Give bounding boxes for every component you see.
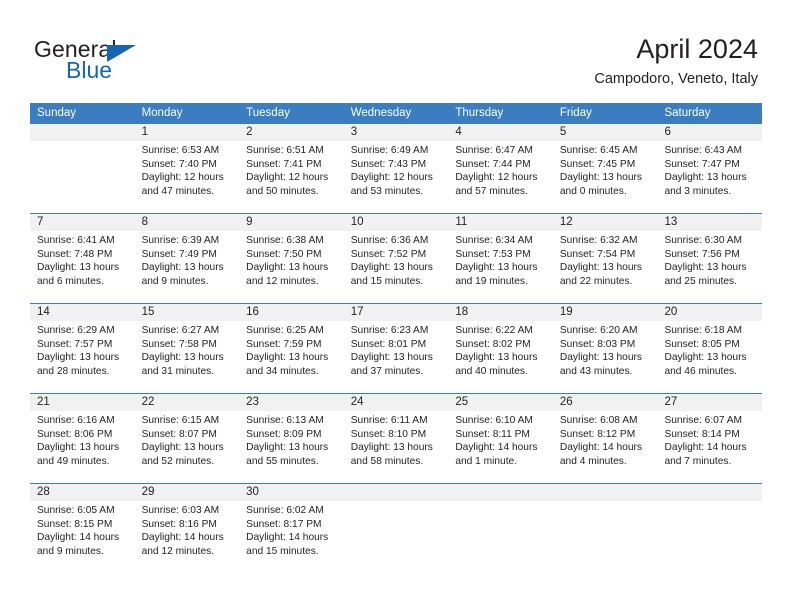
- day-details: Sunrise: 6:08 AMSunset: 8:12 PMDaylight:…: [553, 411, 658, 468]
- sunrise-time: Sunrise: 6:41 AM: [37, 234, 129, 248]
- daylight-duration-line1: Daylight: 12 hours: [351, 171, 443, 185]
- day-details: Sunrise: 6:49 AMSunset: 7:43 PMDaylight:…: [344, 141, 449, 198]
- weekday-header-monday: Monday: [135, 103, 240, 124]
- calendar-day-cell[interactable]: 1Sunrise: 6:53 AMSunset: 7:40 PMDaylight…: [135, 124, 240, 213]
- title-block: April 2024 Campodoro, Veneto, Italy: [594, 32, 758, 90]
- daylight-duration-line2: and 12 minutes.: [142, 545, 234, 559]
- sunrise-time: Sunrise: 6:39 AM: [142, 234, 234, 248]
- calendar-day-cell[interactable]: 28Sunrise: 6:05 AMSunset: 8:15 PMDayligh…: [30, 484, 135, 570]
- daylight-duration-line1: Daylight: 13 hours: [37, 351, 129, 365]
- daylight-duration-line1: Daylight: 14 hours: [455, 441, 547, 455]
- calendar-day-cell[interactable]: 3Sunrise: 6:49 AMSunset: 7:43 PMDaylight…: [344, 124, 449, 213]
- sunset-time: Sunset: 8:09 PM: [246, 428, 338, 442]
- day-number: 4: [448, 124, 553, 141]
- sunrise-time: Sunrise: 6:05 AM: [37, 504, 129, 518]
- daylight-duration-line2: and 49 minutes.: [37, 455, 129, 469]
- daylight-duration-line1: Daylight: 14 hours: [142, 531, 234, 545]
- calendar-day-cell-empty: [553, 484, 658, 570]
- sunrise-time: Sunrise: 6:08 AM: [560, 414, 652, 428]
- daylight-duration-line2: and 1 minute.: [455, 455, 547, 469]
- day-number: 11: [448, 214, 553, 231]
- location-subtitle: Campodoro, Veneto, Italy: [594, 68, 758, 90]
- sunrise-time: Sunrise: 6:45 AM: [560, 144, 652, 158]
- sunset-time: Sunset: 7:50 PM: [246, 248, 338, 262]
- daylight-duration-line1: Daylight: 14 hours: [246, 531, 338, 545]
- sunrise-time: Sunrise: 6:38 AM: [246, 234, 338, 248]
- calendar-day-cell[interactable]: 5Sunrise: 6:45 AMSunset: 7:45 PMDaylight…: [553, 124, 658, 213]
- daylight-duration-line1: Daylight: 13 hours: [455, 261, 547, 275]
- logo-text-blue: Blue: [66, 57, 112, 83]
- day-details: Sunrise: 6:22 AMSunset: 8:02 PMDaylight:…: [448, 321, 553, 378]
- daylight-duration-line1: Daylight: 13 hours: [142, 261, 234, 275]
- sunrise-time: Sunrise: 6:02 AM: [246, 504, 338, 518]
- calendar-week-row: 21Sunrise: 6:16 AMSunset: 8:06 PMDayligh…: [30, 393, 762, 483]
- sunrise-time: Sunrise: 6:43 AM: [664, 144, 756, 158]
- day-details: Sunrise: 6:43 AMSunset: 7:47 PMDaylight:…: [657, 141, 762, 198]
- daylight-duration-line1: Daylight: 12 hours: [455, 171, 547, 185]
- daylight-duration-line2: and 9 minutes.: [142, 275, 234, 289]
- daylight-duration-line1: Daylight: 13 hours: [560, 351, 652, 365]
- day-number: 25: [448, 394, 553, 411]
- calendar-day-cell[interactable]: 21Sunrise: 6:16 AMSunset: 8:06 PMDayligh…: [30, 394, 135, 483]
- day-number: 18: [448, 304, 553, 321]
- calendar-day-cell[interactable]: 22Sunrise: 6:15 AMSunset: 8:07 PMDayligh…: [135, 394, 240, 483]
- day-number: 5: [553, 124, 658, 141]
- weekday-header-tuesday: Tuesday: [239, 103, 344, 124]
- day-details: Sunrise: 6:27 AMSunset: 7:58 PMDaylight:…: [135, 321, 240, 378]
- day-details: Sunrise: 6:45 AMSunset: 7:45 PMDaylight:…: [553, 141, 658, 198]
- sunset-time: Sunset: 7:56 PM: [664, 248, 756, 262]
- daylight-duration-line1: Daylight: 13 hours: [351, 441, 443, 455]
- day-details: Sunrise: 6:23 AMSunset: 8:01 PMDaylight:…: [344, 321, 449, 378]
- sunset-time: Sunset: 7:54 PM: [560, 248, 652, 262]
- daylight-duration-line2: and 53 minutes.: [351, 185, 443, 199]
- sunset-time: Sunset: 8:03 PM: [560, 338, 652, 352]
- sunset-time: Sunset: 8:15 PM: [37, 518, 129, 532]
- calendar-day-cell[interactable]: 20Sunrise: 6:18 AMSunset: 8:05 PMDayligh…: [657, 304, 762, 393]
- calendar-day-cell[interactable]: 16Sunrise: 6:25 AMSunset: 7:59 PMDayligh…: [239, 304, 344, 393]
- calendar-week-row: 14Sunrise: 6:29 AMSunset: 7:57 PMDayligh…: [30, 303, 762, 393]
- daylight-duration-line2: and 52 minutes.: [142, 455, 234, 469]
- calendar-day-cell[interactable]: 30Sunrise: 6:02 AMSunset: 8:17 PMDayligh…: [239, 484, 344, 570]
- day-details: Sunrise: 6:41 AMSunset: 7:48 PMDaylight:…: [30, 231, 135, 288]
- calendar-day-cell[interactable]: 7Sunrise: 6:41 AMSunset: 7:48 PMDaylight…: [30, 214, 135, 303]
- sunset-time: Sunset: 7:41 PM: [246, 158, 338, 172]
- sunset-time: Sunset: 8:16 PM: [142, 518, 234, 532]
- weekday-header-friday: Friday: [553, 103, 658, 124]
- sunrise-time: Sunrise: 6:10 AM: [455, 414, 547, 428]
- day-details: Sunrise: 6:20 AMSunset: 8:03 PMDaylight:…: [553, 321, 658, 378]
- daylight-duration-line1: Daylight: 13 hours: [246, 261, 338, 275]
- sunrise-time: Sunrise: 6:34 AM: [455, 234, 547, 248]
- daylight-duration-line2: and 31 minutes.: [142, 365, 234, 379]
- day-details: Sunrise: 6:07 AMSunset: 8:14 PMDaylight:…: [657, 411, 762, 468]
- daylight-duration-line1: Daylight: 12 hours: [142, 171, 234, 185]
- general-blue-logo: General Blue: [34, 36, 234, 90]
- weekday-header-thursday: Thursday: [448, 103, 553, 124]
- daylight-duration-line1: Daylight: 13 hours: [142, 441, 234, 455]
- sunset-time: Sunset: 8:14 PM: [664, 428, 756, 442]
- sunrise-time: Sunrise: 6:16 AM: [37, 414, 129, 428]
- day-details: Sunrise: 6:13 AMSunset: 8:09 PMDaylight:…: [239, 411, 344, 468]
- day-number: [553, 484, 658, 501]
- daylight-duration-line2: and 40 minutes.: [455, 365, 547, 379]
- day-details: Sunrise: 6:02 AMSunset: 8:17 PMDaylight:…: [239, 501, 344, 558]
- day-details: Sunrise: 6:10 AMSunset: 8:11 PMDaylight:…: [448, 411, 553, 468]
- daylight-duration-line2: and 19 minutes.: [455, 275, 547, 289]
- daylight-duration-line1: Daylight: 13 hours: [560, 171, 652, 185]
- calendar-page: General Blue April 2024 Campodoro, Venet…: [0, 0, 792, 612]
- calendar-day-cell[interactable]: 15Sunrise: 6:27 AMSunset: 7:58 PMDayligh…: [135, 304, 240, 393]
- calendar-day-cell[interactable]: 25Sunrise: 6:10 AMSunset: 8:11 PMDayligh…: [448, 394, 553, 483]
- day-number: [344, 484, 449, 501]
- page-title: April 2024: [594, 32, 758, 66]
- daylight-duration-line2: and 46 minutes.: [664, 365, 756, 379]
- day-number: 16: [239, 304, 344, 321]
- day-number: 30: [239, 484, 344, 501]
- calendar-day-cell-empty: [657, 484, 762, 570]
- day-details: Sunrise: 6:03 AMSunset: 8:16 PMDaylight:…: [135, 501, 240, 558]
- sunrise-time: Sunrise: 6:20 AM: [560, 324, 652, 338]
- daylight-duration-line2: and 15 minutes.: [351, 275, 443, 289]
- daylight-duration-line1: Daylight: 13 hours: [351, 351, 443, 365]
- sunset-time: Sunset: 7:52 PM: [351, 248, 443, 262]
- daylight-duration-line1: Daylight: 13 hours: [351, 261, 443, 275]
- daylight-duration-line1: Daylight: 13 hours: [664, 261, 756, 275]
- calendar-day-cell[interactable]: 18Sunrise: 6:22 AMSunset: 8:02 PMDayligh…: [448, 304, 553, 393]
- sunset-time: Sunset: 8:12 PM: [560, 428, 652, 442]
- sunrise-time: Sunrise: 6:23 AM: [351, 324, 443, 338]
- day-number: 8: [135, 214, 240, 231]
- day-number: 19: [553, 304, 658, 321]
- sunrise-time: Sunrise: 6:30 AM: [664, 234, 756, 248]
- weekday-header-sunday: Sunday: [30, 103, 135, 124]
- day-number: 22: [135, 394, 240, 411]
- sunset-time: Sunset: 8:07 PM: [142, 428, 234, 442]
- daylight-duration-line1: Daylight: 13 hours: [246, 351, 338, 365]
- daylight-duration-line1: Daylight: 14 hours: [664, 441, 756, 455]
- daylight-duration-line2: and 28 minutes.: [37, 365, 129, 379]
- day-details: Sunrise: 6:18 AMSunset: 8:05 PMDaylight:…: [657, 321, 762, 378]
- page-header: General Blue April 2024 Campodoro, Venet…: [34, 32, 758, 94]
- calendar-grid: Sunday Monday Tuesday Wednesday Thursday…: [30, 103, 762, 570]
- daylight-duration-line2: and 55 minutes.: [246, 455, 338, 469]
- day-number: 27: [657, 394, 762, 411]
- calendar-day-cell[interactable]: 27Sunrise: 6:07 AMSunset: 8:14 PMDayligh…: [657, 394, 762, 483]
- day-number: 6: [657, 124, 762, 141]
- sunrise-time: Sunrise: 6:18 AM: [664, 324, 756, 338]
- daylight-duration-line1: Daylight: 13 hours: [560, 261, 652, 275]
- sunset-time: Sunset: 7:40 PM: [142, 158, 234, 172]
- calendar-day-cell-empty: [344, 484, 449, 570]
- day-number: 17: [344, 304, 449, 321]
- daylight-duration-line1: Daylight: 14 hours: [37, 531, 129, 545]
- day-details: Sunrise: 6:51 AMSunset: 7:41 PMDaylight:…: [239, 141, 344, 198]
- sunset-time: Sunset: 7:44 PM: [455, 158, 547, 172]
- sunrise-time: Sunrise: 6:51 AM: [246, 144, 338, 158]
- daylight-duration-line2: and 37 minutes.: [351, 365, 443, 379]
- calendar-day-cell[interactable]: 2Sunrise: 6:51 AMSunset: 7:41 PMDaylight…: [239, 124, 344, 213]
- calendar-day-cell[interactable]: 10Sunrise: 6:36 AMSunset: 7:52 PMDayligh…: [344, 214, 449, 303]
- sunset-time: Sunset: 8:05 PM: [664, 338, 756, 352]
- daylight-duration-line2: and 22 minutes.: [560, 275, 652, 289]
- daylight-duration-line1: Daylight: 13 hours: [664, 171, 756, 185]
- sunset-time: Sunset: 7:57 PM: [37, 338, 129, 352]
- day-details: Sunrise: 6:36 AMSunset: 7:52 PMDaylight:…: [344, 231, 449, 288]
- day-details: Sunrise: 6:39 AMSunset: 7:49 PMDaylight:…: [135, 231, 240, 288]
- sunset-time: Sunset: 7:45 PM: [560, 158, 652, 172]
- sunset-time: Sunset: 8:11 PM: [455, 428, 547, 442]
- day-number: 29: [135, 484, 240, 501]
- daylight-duration-line1: Daylight: 13 hours: [455, 351, 547, 365]
- sunrise-time: Sunrise: 6:03 AM: [142, 504, 234, 518]
- day-number: 10: [344, 214, 449, 231]
- day-number: 7: [30, 214, 135, 231]
- daylight-duration-line2: and 3 minutes.: [664, 185, 756, 199]
- sunrise-time: Sunrise: 6:32 AM: [560, 234, 652, 248]
- day-number: [657, 484, 762, 501]
- calendar-day-cell[interactable]: 9Sunrise: 6:38 AMSunset: 7:50 PMDaylight…: [239, 214, 344, 303]
- sunrise-time: Sunrise: 6:36 AM: [351, 234, 443, 248]
- sunset-time: Sunset: 7:49 PM: [142, 248, 234, 262]
- sunset-time: Sunset: 7:58 PM: [142, 338, 234, 352]
- calendar-day-cell-empty: [30, 124, 135, 213]
- sunrise-time: Sunrise: 6:07 AM: [664, 414, 756, 428]
- calendar-day-cell[interactable]: 6Sunrise: 6:43 AMSunset: 7:47 PMDaylight…: [657, 124, 762, 213]
- day-number: 21: [30, 394, 135, 411]
- calendar-day-cell[interactable]: 8Sunrise: 6:39 AMSunset: 7:49 PMDaylight…: [135, 214, 240, 303]
- daylight-duration-line1: Daylight: 13 hours: [37, 441, 129, 455]
- calendar-day-cell[interactable]: 4Sunrise: 6:47 AMSunset: 7:44 PMDaylight…: [448, 124, 553, 213]
- calendar-day-cell[interactable]: 19Sunrise: 6:20 AMSunset: 8:03 PMDayligh…: [553, 304, 658, 393]
- daylight-duration-line1: Daylight: 14 hours: [560, 441, 652, 455]
- daylight-duration-line2: and 57 minutes.: [455, 185, 547, 199]
- day-details: Sunrise: 6:05 AMSunset: 8:15 PMDaylight:…: [30, 501, 135, 558]
- day-number: [30, 124, 135, 141]
- sunset-time: Sunset: 8:01 PM: [351, 338, 443, 352]
- day-number: 2: [239, 124, 344, 141]
- calendar-day-cell[interactable]: 11Sunrise: 6:34 AMSunset: 7:53 PMDayligh…: [448, 214, 553, 303]
- day-details: Sunrise: 6:53 AMSunset: 7:40 PMDaylight:…: [135, 141, 240, 198]
- calendar-day-cell[interactable]: 12Sunrise: 6:32 AMSunset: 7:54 PMDayligh…: [553, 214, 658, 303]
- sunrise-time: Sunrise: 6:53 AM: [142, 144, 234, 158]
- day-number: 26: [553, 394, 658, 411]
- daylight-duration-line2: and 50 minutes.: [246, 185, 338, 199]
- calendar-weeks: 1Sunrise: 6:53 AMSunset: 7:40 PMDaylight…: [30, 124, 762, 570]
- calendar-day-cell[interactable]: 24Sunrise: 6:11 AMSunset: 8:10 PMDayligh…: [344, 394, 449, 483]
- day-number: 15: [135, 304, 240, 321]
- calendar-week-row: 1Sunrise: 6:53 AMSunset: 7:40 PMDaylight…: [30, 124, 762, 213]
- daylight-duration-line1: Daylight: 13 hours: [142, 351, 234, 365]
- sunset-time: Sunset: 8:10 PM: [351, 428, 443, 442]
- sunrise-time: Sunrise: 6:22 AM: [455, 324, 547, 338]
- daylight-duration-line2: and 43 minutes.: [560, 365, 652, 379]
- day-details: Sunrise: 6:34 AMSunset: 7:53 PMDaylight:…: [448, 231, 553, 288]
- daylight-duration-line2: and 9 minutes.: [37, 545, 129, 559]
- day-details: Sunrise: 6:25 AMSunset: 7:59 PMDaylight:…: [239, 321, 344, 378]
- daylight-duration-line2: and 47 minutes.: [142, 185, 234, 199]
- day-details: Sunrise: 6:32 AMSunset: 7:54 PMDaylight:…: [553, 231, 658, 288]
- sunrise-time: Sunrise: 6:47 AM: [455, 144, 547, 158]
- sunrise-time: Sunrise: 6:13 AM: [246, 414, 338, 428]
- sunrise-time: Sunrise: 6:29 AM: [37, 324, 129, 338]
- sunrise-time: Sunrise: 6:11 AM: [351, 414, 443, 428]
- weekday-header-wednesday: Wednesday: [344, 103, 449, 124]
- calendar-day-cell[interactable]: 13Sunrise: 6:30 AMSunset: 7:56 PMDayligh…: [657, 214, 762, 303]
- sunset-time: Sunset: 8:02 PM: [455, 338, 547, 352]
- daylight-duration-line2: and 12 minutes.: [246, 275, 338, 289]
- day-number: 13: [657, 214, 762, 231]
- day-number: 20: [657, 304, 762, 321]
- day-details: Sunrise: 6:29 AMSunset: 7:57 PMDaylight:…: [30, 321, 135, 378]
- day-details: Sunrise: 6:11 AMSunset: 8:10 PMDaylight:…: [344, 411, 449, 468]
- daylight-duration-line1: Daylight: 13 hours: [37, 261, 129, 275]
- day-details: Sunrise: 6:16 AMSunset: 8:06 PMDaylight:…: [30, 411, 135, 468]
- sunset-time: Sunset: 7:59 PM: [246, 338, 338, 352]
- daylight-duration-line2: and 25 minutes.: [664, 275, 756, 289]
- daylight-duration-line2: and 4 minutes.: [560, 455, 652, 469]
- weekday-header-row: Sunday Monday Tuesday Wednesday Thursday…: [30, 103, 762, 124]
- day-details: Sunrise: 6:15 AMSunset: 8:07 PMDaylight:…: [135, 411, 240, 468]
- sunrise-time: Sunrise: 6:25 AM: [246, 324, 338, 338]
- daylight-duration-line2: and 58 minutes.: [351, 455, 443, 469]
- day-number: 24: [344, 394, 449, 411]
- daylight-duration-line1: Daylight: 13 hours: [246, 441, 338, 455]
- day-details: Sunrise: 6:38 AMSunset: 7:50 PMDaylight:…: [239, 231, 344, 288]
- daylight-duration-line2: and 15 minutes.: [246, 545, 338, 559]
- day-number: 28: [30, 484, 135, 501]
- sunrise-time: Sunrise: 6:49 AM: [351, 144, 443, 158]
- calendar-day-cell[interactable]: 17Sunrise: 6:23 AMSunset: 8:01 PMDayligh…: [344, 304, 449, 393]
- sunrise-time: Sunrise: 6:15 AM: [142, 414, 234, 428]
- daylight-duration-line2: and 0 minutes.: [560, 185, 652, 199]
- day-number: 23: [239, 394, 344, 411]
- day-number: [448, 484, 553, 501]
- weekday-header-saturday: Saturday: [657, 103, 762, 124]
- day-details: Sunrise: 6:47 AMSunset: 7:44 PMDaylight:…: [448, 141, 553, 198]
- daylight-duration-line1: Daylight: 12 hours: [246, 171, 338, 185]
- day-number: 1: [135, 124, 240, 141]
- daylight-duration-line2: and 7 minutes.: [664, 455, 756, 469]
- calendar-day-cell[interactable]: 29Sunrise: 6:03 AMSunset: 8:16 PMDayligh…: [135, 484, 240, 570]
- sunset-time: Sunset: 7:48 PM: [37, 248, 129, 262]
- sunrise-time: Sunrise: 6:27 AM: [142, 324, 234, 338]
- day-number: 14: [30, 304, 135, 321]
- calendar-week-row: 7Sunrise: 6:41 AMSunset: 7:48 PMDaylight…: [30, 213, 762, 303]
- calendar-day-cell[interactable]: 14Sunrise: 6:29 AMSunset: 7:57 PMDayligh…: [30, 304, 135, 393]
- sunset-time: Sunset: 8:06 PM: [37, 428, 129, 442]
- sunset-time: Sunset: 7:53 PM: [455, 248, 547, 262]
- day-details: Sunrise: 6:30 AMSunset: 7:56 PMDaylight:…: [657, 231, 762, 288]
- calendar-day-cell[interactable]: 26Sunrise: 6:08 AMSunset: 8:12 PMDayligh…: [553, 394, 658, 483]
- daylight-duration-line1: Daylight: 13 hours: [664, 351, 756, 365]
- calendar-day-cell[interactable]: 23Sunrise: 6:13 AMSunset: 8:09 PMDayligh…: [239, 394, 344, 483]
- day-number: 3: [344, 124, 449, 141]
- calendar-week-row: 28Sunrise: 6:05 AMSunset: 8:15 PMDayligh…: [30, 483, 762, 570]
- sunset-time: Sunset: 7:47 PM: [664, 158, 756, 172]
- day-number: 12: [553, 214, 658, 231]
- sunset-time: Sunset: 8:17 PM: [246, 518, 338, 532]
- daylight-duration-line2: and 34 minutes.: [246, 365, 338, 379]
- day-number: 9: [239, 214, 344, 231]
- calendar-day-cell-empty: [448, 484, 553, 570]
- sunset-time: Sunset: 7:43 PM: [351, 158, 443, 172]
- daylight-duration-line2: and 6 minutes.: [37, 275, 129, 289]
